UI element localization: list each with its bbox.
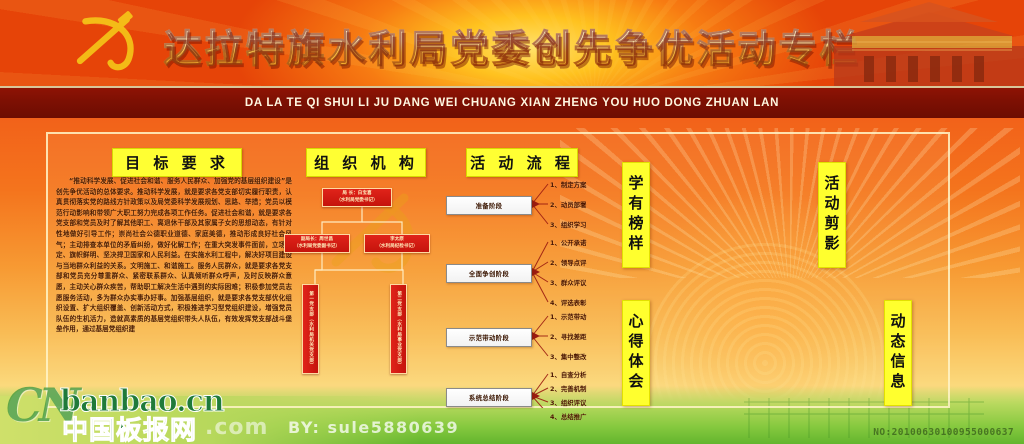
org-node-director: 局 长：白宝喜 （水利局党委书记） [322,188,392,207]
flow-item: 3、组织学习 [550,220,586,229]
org-node-branch-one: 第一党支部（水利局机关党支部） [302,284,319,374]
pinyin-subtitle-bar: DA LA TE QI SHUI LI JU DANG WEI CHUANG X… [0,86,1024,120]
tab-learning-models[interactable]: 学有榜样 [622,162,650,268]
org-node-discipline-secretary: 李太原 （水利局纪检书记） [364,234,430,253]
flow-stage-demonstrate: 示范带动阶段 [446,328,532,347]
flow-item: 2、领导点评 [550,258,586,267]
poster-canvas: 达拉特旗水利局党委创先争优活动专栏 DA LA TE QI SHUI LI JU… [0,0,1024,444]
flow-item: 3、集中整改 [550,352,586,361]
org-node-subtitle: （水利局纪检书记） [376,244,417,250]
flow-stage-summarize: 系统总结阶段 [446,388,532,407]
header-banner: 达拉特旗水利局党委创先争优活动专栏 [0,0,1024,86]
org-chart: 局 长：白宝喜 （水利局党委书记） 副局长：周世昌 （水利局党委副书记） 李太原… [282,176,442,388]
flow-item: 3、群众评议 [550,278,586,287]
tab-dynamic-news[interactable]: 动态信息 [884,300,912,406]
watermark-domain-suffix: .com [205,415,268,440]
flow-stage-prepare: 准备阶段 [446,196,532,215]
activity-flow-chart: 准备阶段 全面争创阶段 示范带动阶段 系统总结阶段 1、制定方案 2、动员部署 … [446,176,618,396]
org-node-deputy-director: 副局长：周世昌 （水利局党委副书记） [284,234,350,253]
flow-item: 2、寻找差距 [550,332,586,341]
watermark-author: BY: sule5880639 [288,418,459,437]
org-node-subtitle: （水利局党委书记） [336,198,377,204]
section-heading-org: 组 织 机 构 [306,148,426,177]
flow-item: 2、完善机制 [550,384,586,393]
flow-item: 3、组织评议 [550,398,586,407]
flow-stage-compete: 全面争创阶段 [446,264,532,283]
flow-item: 1、制定方案 [550,180,586,189]
flow-item: 1、自查分析 [550,370,586,379]
flow-item: 4、评选表彰 [550,298,586,307]
section-heading-goal: 目 标 要 求 [112,148,242,177]
flow-item: 2、动员部署 [550,200,586,209]
flow-item: 1、示范带动 [550,312,586,321]
flow-item: 4、总结推广 [550,412,586,421]
section-heading-flow: 活 动 流 程 [466,148,578,177]
goal-body-text: “推动科学发展、促进社会和谐、服务人民群众、加强党的基层组织建设”是创先争优活动… [56,176,292,388]
tiananmen-gate-icon [834,0,1024,86]
tab-reflections[interactable]: 心得体会 [622,300,650,406]
org-node-branch-two: 第二党支部（水利局事业党支部） [390,284,407,374]
org-node-subtitle: （水利局党委副书记） [294,244,340,250]
tab-activity-snapshots[interactable]: 活动剪影 [818,162,846,268]
flow-item: 1、公开承诺 [550,238,586,247]
pinyin-subtitle: DA LA TE QI SHUI LI JU DANG WEI CHUANG X… [245,97,779,109]
watermark-site-name-cn: 中国板报网 [62,410,197,444]
image-serial-number: NO:20100630100955000637 [873,427,1014,438]
